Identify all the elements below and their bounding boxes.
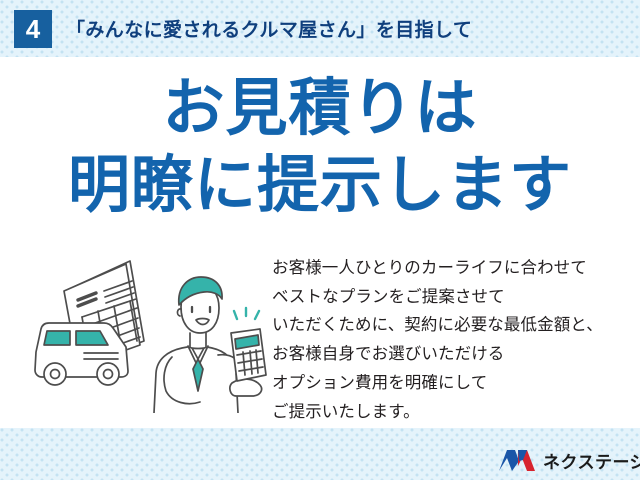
- body-line-5: オプション費用を明確にして: [272, 369, 632, 398]
- calculator-illustration: [231, 329, 266, 381]
- headline: お見積りは 明瞭に提示します: [0, 77, 640, 217]
- header: 4 「みんなに愛されるクルマ屋さん」を目指して: [0, 0, 640, 57]
- body-line-6: ご提示いたします。: [272, 398, 632, 427]
- body-line-1: お客様一人ひとりのカーライフに合わせて: [272, 254, 632, 283]
- headline-line-1: お見積りは: [0, 77, 640, 140]
- body-line-3: いただくために、契約に必要な最低金額と、: [272, 311, 632, 340]
- advertisement-banner: 4 「みんなに愛されるクルマ屋さん」を目指して お見積りは 明瞭に提示します お…: [0, 0, 640, 480]
- brand-name: ネクステージ: [543, 448, 640, 473]
- main-content: お見積りは 明瞭に提示します お客様一人ひとりのカーライフに合わせて ベストなプ…: [0, 57, 640, 428]
- sparkle-icon: [234, 308, 259, 319]
- brand-logo: ネクステージ: [498, 446, 640, 474]
- van-illustration: [35, 323, 128, 385]
- body-line-4: お客様自身でお選びいただける: [272, 340, 632, 369]
- illustration-estimate-salesman-van: [22, 245, 274, 413]
- body-line-2: ベストなプランをご提案させて: [272, 283, 632, 312]
- headline-line-2: 明瞭に提示します: [0, 154, 640, 217]
- body-paragraph: お客様一人ひとりのカーライフに合わせて ベストなプランをご提案させて いただくた…: [272, 254, 632, 426]
- header-title: 「みんなに愛されるクルマ屋さん」を目指して: [66, 15, 472, 42]
- nextage-n-logo-icon: [498, 448, 536, 473]
- step-number-badge: 4: [14, 10, 52, 48]
